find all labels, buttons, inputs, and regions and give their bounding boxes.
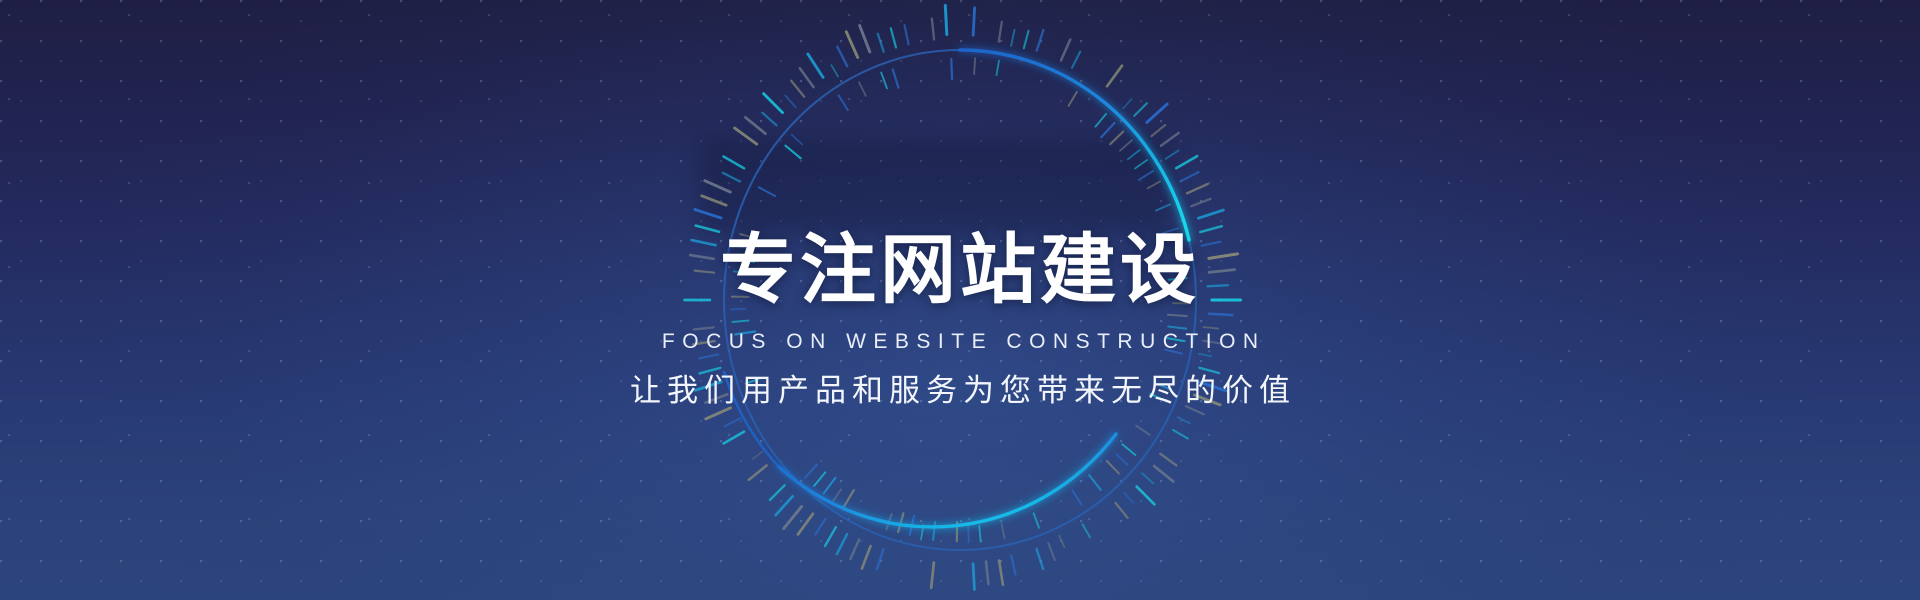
ring-tick-inner <box>1116 454 1128 465</box>
ring-tick-marks <box>685 6 1241 590</box>
ring-tick-inner <box>1168 315 1187 316</box>
ring-tick <box>1011 30 1014 46</box>
ring-tick <box>690 255 713 259</box>
ring-tick-inner <box>786 146 801 159</box>
ring-tick-inner <box>740 234 756 238</box>
ring-tick <box>1209 314 1232 315</box>
ring-arc-left-lower <box>724 372 778 466</box>
ring-tick <box>693 341 715 344</box>
ring-tick-inner <box>746 378 761 384</box>
ring-arc-top-right <box>960 50 1189 240</box>
ring-tick-inner <box>1089 475 1101 490</box>
ring-tick <box>1037 30 1044 50</box>
ring-tick-inner <box>1034 513 1039 528</box>
ring-tick <box>945 6 947 35</box>
ring-tick <box>696 226 719 232</box>
ring-tick <box>1024 31 1029 48</box>
ring-tick <box>825 527 836 546</box>
ring-tick-inner <box>1139 171 1153 180</box>
ring-tick-inner <box>910 516 914 535</box>
ring-tick <box>1142 473 1153 483</box>
ring-tick <box>725 418 741 426</box>
ring-tick-inner <box>1101 123 1114 137</box>
ring-tick-inner <box>1107 461 1119 474</box>
background-glow <box>110 0 1810 600</box>
ring-tick <box>1209 270 1235 273</box>
ring-tick <box>724 432 745 444</box>
ring-tick <box>973 8 974 35</box>
ring-tick <box>1011 556 1015 575</box>
ring-tick <box>837 534 847 554</box>
ring-tick <box>1161 133 1179 146</box>
ring-tick-inner <box>1122 444 1135 455</box>
ring-tick-inner <box>1165 350 1182 354</box>
ring-tick <box>724 156 745 168</box>
ring-tick <box>784 507 802 529</box>
ring-tick <box>764 94 783 113</box>
ring-tick-inner <box>732 321 748 322</box>
ring-tick <box>1200 226 1222 232</box>
ring-tick-inner <box>898 513 903 532</box>
ring-tick-inner <box>1110 132 1123 145</box>
ring-tick <box>702 196 726 205</box>
ring-arc-bottom <box>778 434 1116 527</box>
ring-tick <box>1199 368 1219 373</box>
ring-tick <box>1151 125 1165 136</box>
ring-tick <box>860 25 870 51</box>
ring-tick-inner <box>979 526 980 542</box>
ring-tick-inner <box>805 465 817 478</box>
ring-tick <box>694 327 714 329</box>
ring-tick <box>1137 487 1155 505</box>
page-tagline-cn: 让我们用产品和服务为您带来无尽的价值 <box>0 376 1920 407</box>
ring-tick-inner <box>1148 181 1160 188</box>
ring-tick-inner <box>814 472 825 485</box>
ring-tick <box>1199 382 1226 391</box>
ring-tick <box>785 95 796 107</box>
ring-tick <box>1198 210 1223 218</box>
ring-tick <box>1147 104 1167 122</box>
ring-tick <box>878 34 884 52</box>
ring-tick-inner <box>1002 524 1005 538</box>
dot-grid-texture-secondary <box>0 0 1920 600</box>
ring-tick <box>850 539 859 558</box>
ring-tick-inner <box>951 59 952 79</box>
ring-tick <box>932 19 934 40</box>
ring-tick-inner <box>996 61 999 76</box>
ring-tick-inner <box>734 271 752 273</box>
ring-tick-inner <box>824 478 836 493</box>
ring-tick <box>1207 285 1228 286</box>
ring-tick <box>745 117 765 133</box>
banner-copy: 专注网站建设 FOCUS ON WEBSITE CONSTRUCTION 让我们… <box>0 0 1920 600</box>
ring-tick <box>1199 354 1212 357</box>
ring-tick-inner <box>737 246 753 250</box>
ring-tick <box>808 54 823 77</box>
ring-tick <box>999 22 1002 42</box>
ring-tick-inner <box>833 489 841 502</box>
ring-tick <box>699 368 720 374</box>
ring-tick-inner <box>839 95 848 110</box>
ring-tick <box>692 240 716 245</box>
ring-tick-inner <box>1128 150 1140 159</box>
ring-tick <box>999 561 1003 585</box>
ring-tick-inner <box>921 525 924 539</box>
ring-tick <box>1176 156 1197 168</box>
ring-tick <box>1178 417 1190 423</box>
ring-tick <box>699 354 718 358</box>
page-title: 专注网站建设 <box>0 232 1920 308</box>
ring-tick <box>752 452 762 459</box>
ring-tick-inner <box>974 58 975 74</box>
ring-tick-inner <box>1168 326 1186 328</box>
ring-tick <box>831 65 838 76</box>
ring-outline-dim <box>724 50 1196 550</box>
decorative-tech-ring <box>686 42 1234 558</box>
ghost-text-band <box>700 138 1170 234</box>
ring-tick-inner <box>844 490 854 507</box>
ring-tick-inner <box>1072 490 1081 504</box>
ring-tick <box>695 210 721 219</box>
ring-tick-inner <box>1154 383 1171 390</box>
ring-tick-inner <box>1162 228 1178 233</box>
ring-tick <box>705 394 727 402</box>
ring-tick-inner <box>736 259 754 262</box>
ring-tick <box>1123 99 1131 108</box>
ring-tick <box>1134 103 1147 116</box>
ring-tick <box>846 32 857 58</box>
ring-tick <box>791 81 804 97</box>
ring-tick <box>706 408 731 419</box>
ring-tick <box>837 47 847 66</box>
ring-tick <box>904 25 908 44</box>
ring-tick <box>1160 454 1176 466</box>
page-subtitle-en: FOCUS ON WEBSITE CONSTRUCTION <box>0 331 1920 352</box>
ring-tick <box>815 519 825 535</box>
ring-tick-inner <box>968 526 969 542</box>
ring-tick <box>705 181 730 192</box>
ring-tick <box>1209 254 1238 259</box>
ring-tick-inner <box>1120 140 1132 150</box>
ring-tick-inner <box>1135 160 1147 169</box>
ring-tick <box>749 465 767 479</box>
ring-tick <box>1191 199 1210 206</box>
ring-tick-inner <box>1156 204 1170 210</box>
ring-tick <box>1154 466 1173 482</box>
ring-tick-inner <box>1069 92 1077 106</box>
ring-tick <box>800 68 814 87</box>
ring-tick <box>695 271 714 273</box>
ring-tick <box>862 546 871 569</box>
ring-tick-inner <box>933 522 935 540</box>
ring-tick <box>1116 503 1128 518</box>
ring-tick <box>1186 406 1204 414</box>
ring-tick <box>1083 524 1091 537</box>
ring-tick <box>1195 395 1221 405</box>
ring-tick <box>770 485 785 500</box>
ring-tick-inner <box>881 73 887 89</box>
ring-tick <box>1202 242 1221 246</box>
ring-tick <box>798 514 813 535</box>
ring-tick <box>973 564 974 589</box>
ring-tick-inner <box>792 135 802 145</box>
ring-tick-inner <box>759 187 775 196</box>
ring-tick <box>1048 543 1054 560</box>
ring-tick <box>1173 430 1188 439</box>
ring-tick <box>1181 172 1199 181</box>
ring-tick-inner <box>731 309 745 310</box>
ring-tick <box>695 382 721 390</box>
ring-tick <box>877 549 883 569</box>
ring-tick <box>891 28 896 47</box>
ring-tick-inner <box>1136 426 1150 435</box>
ring-tick <box>1124 492 1134 503</box>
ring-tick <box>1037 549 1043 569</box>
ring-tick <box>1203 341 1220 344</box>
ring-tick <box>1072 52 1080 68</box>
ring-tick <box>723 173 740 182</box>
ring-tick <box>776 496 793 515</box>
ring-tick-inner <box>859 82 866 96</box>
ring-tick <box>1059 536 1064 548</box>
ring-tick <box>1204 327 1219 329</box>
banner-stage: 专注网站建设 FOCUS ON WEBSITE CONSTRUCTION 让我们… <box>0 0 1920 600</box>
ring-tick <box>931 563 934 588</box>
ring-tick <box>1166 150 1179 158</box>
ring-tick-inner <box>1167 338 1185 341</box>
ring-tick-inner <box>1095 114 1106 127</box>
ring-tick <box>1107 66 1122 87</box>
ring-tick <box>1061 40 1070 60</box>
ring-tick-inner <box>1169 278 1187 280</box>
ring-tick-inner <box>735 332 755 335</box>
ring-tick-inner <box>886 514 891 530</box>
ring-tick-inner <box>893 69 899 87</box>
ring-tick-inner <box>1150 394 1166 402</box>
ring-tick <box>735 128 757 144</box>
ring-tick <box>1187 184 1207 193</box>
ring-tick <box>986 561 988 584</box>
dot-grid-texture <box>0 0 1920 600</box>
ring-tick <box>762 113 776 126</box>
